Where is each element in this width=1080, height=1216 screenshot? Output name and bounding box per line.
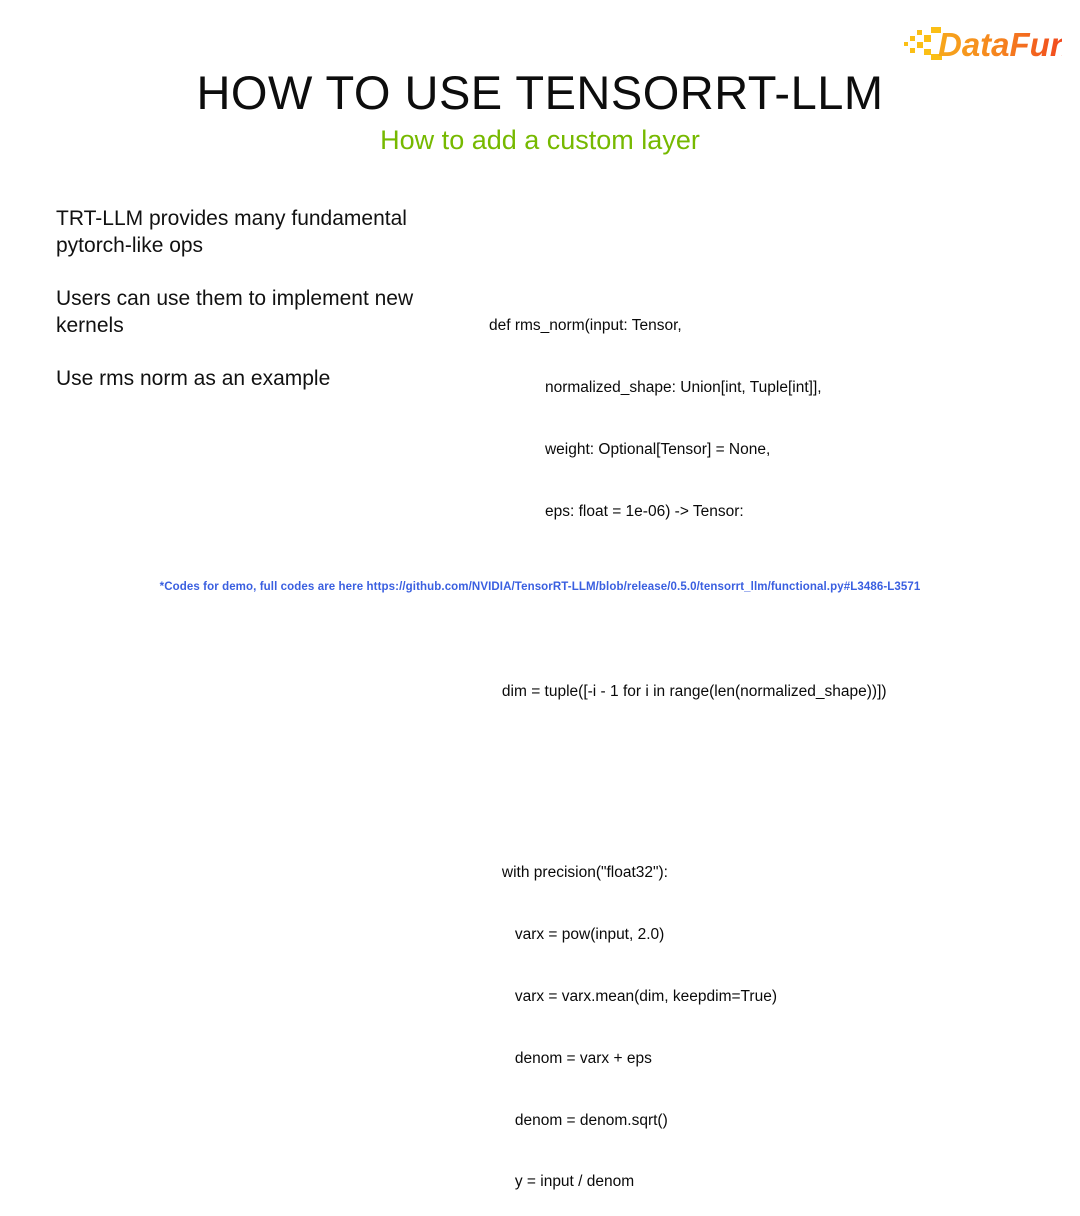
code-line: denom = varx + eps xyxy=(489,1049,1049,1070)
title-block: HOW TO USE TENSORRT-LLM How to add a cus… xyxy=(0,68,1080,156)
footer: *Codes for demo, full codes are here htt… xyxy=(0,577,1080,595)
page-subtitle: How to add a custom layer xyxy=(0,126,1080,156)
code-paragraph: with precision("float32"): varx = pow(in… xyxy=(489,822,1049,1216)
code-block: def rms_norm(input: Tensor, normalized_s… xyxy=(489,213,1049,1216)
bullet-item: Use rms norm as an example xyxy=(56,366,454,393)
code-line: def rms_norm(input: Tensor, xyxy=(489,316,1049,337)
source-note: *Codes for demo, full codes are here htt… xyxy=(160,581,921,593)
code-line: eps: float = 1e-06) -> Tensor: xyxy=(489,502,1049,523)
code-line: y = input / denom xyxy=(489,1172,1049,1193)
code-line: with precision("float32"): xyxy=(489,863,1049,884)
code-line: denom = denom.sqrt() xyxy=(489,1111,1049,1132)
code-line: varx = varx.mean(dim, keepdim=True) xyxy=(489,987,1049,1008)
code-line: weight: Optional[Tensor] = None, xyxy=(489,440,1049,461)
code-paragraph: dim = tuple([-i - 1 for i in range(len(n… xyxy=(489,641,1049,744)
code-line: normalized_shape: Union[int, Tuple[int]]… xyxy=(489,378,1049,399)
code-line: varx = pow(input, 2.0) xyxy=(489,925,1049,946)
bullet-list: TRT-LLM provides many fundamental pytorc… xyxy=(56,206,454,392)
datafun-logo: DataFun. xyxy=(902,22,1062,66)
code-paragraph: def rms_norm(input: Tensor, normalized_s… xyxy=(489,275,1049,564)
bullet-item: TRT-LLM provides many fundamental pytorc… xyxy=(56,206,454,260)
bullet-item: Users can use them to implement new kern… xyxy=(56,286,454,340)
code-line: dim = tuple([-i - 1 for i in range(len(n… xyxy=(489,682,1049,703)
pixel-blocks-icon xyxy=(904,27,942,60)
datafun-wordmark: DataFun. xyxy=(938,26,1062,63)
page-title: HOW TO USE TENSORRT-LLM xyxy=(0,68,1080,118)
datafun-logo-icon: DataFun. xyxy=(902,22,1062,66)
